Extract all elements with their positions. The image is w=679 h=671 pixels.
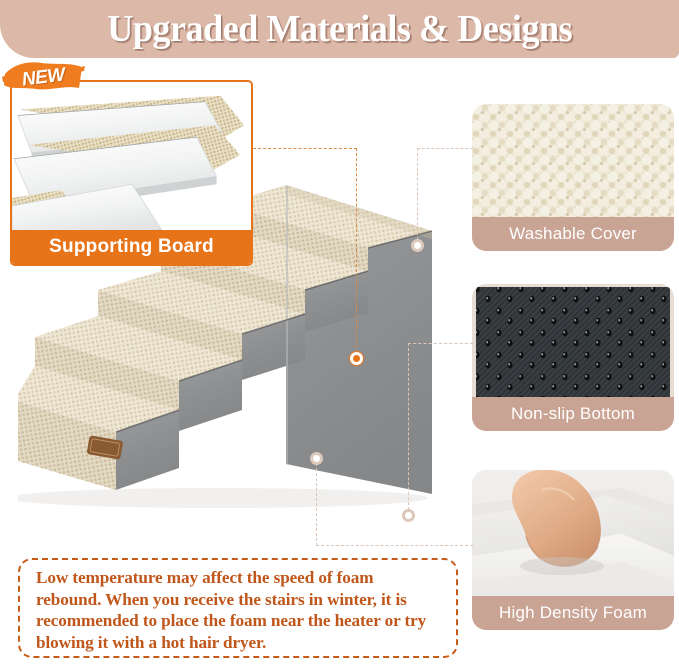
supporting-board-label: Supporting Board (49, 236, 214, 258)
new-badge: NEW (2, 58, 86, 100)
feature-card-washable-cover[interactable]: Washable Cover (472, 104, 674, 251)
leader-line-foam-v (316, 458, 317, 546)
nonslip-bottom-label-bar: Non-slip Bottom (472, 397, 674, 431)
feature-card-high-density-foam[interactable]: High Density Foam (472, 470, 674, 630)
leader-line-foam-h (316, 545, 473, 546)
nonslip-bottom-label: Non-slip Bottom (511, 404, 635, 424)
warning-text: Low temperature may affect the speed of … (36, 567, 442, 653)
header-banner: Upgraded Materials & Designs (0, 0, 679, 58)
warning-box: Low temperature may affect the speed of … (18, 558, 458, 658)
connector-dot-nonslip-bottom (402, 509, 415, 522)
infographic-root: Upgraded Materials & Designs (0, 0, 679, 671)
supporting-board-card[interactable]: Supporting Board (10, 80, 253, 266)
feature-card-nonslip-bottom[interactable]: Non-slip Bottom (472, 284, 674, 431)
leader-line-supporting-board-v (356, 148, 357, 358)
page-title: Upgraded Materials & Designs (107, 7, 572, 51)
connector-dot-supporting-board (350, 352, 363, 365)
leader-line-washable-v (417, 148, 418, 245)
washable-cover-label-bar: Washable Cover (472, 217, 674, 251)
product-stage: Supporting Board NEW (0, 58, 679, 671)
supporting-board-label-bar: Supporting Board (12, 230, 251, 264)
high-density-foam-label-bar: High Density Foam (472, 596, 674, 630)
high-density-foam-label: High Density Foam (499, 603, 647, 623)
connector-dot-high-density-foam (310, 452, 323, 465)
connector-dot-washable-cover (411, 239, 424, 252)
leader-line-washable-h (417, 148, 473, 149)
leader-line-nonslip-v (408, 343, 409, 515)
leader-line-supporting-board-h (253, 148, 357, 149)
washable-cover-label: Washable Cover (509, 224, 637, 244)
leader-line-nonslip-h (408, 343, 473, 344)
